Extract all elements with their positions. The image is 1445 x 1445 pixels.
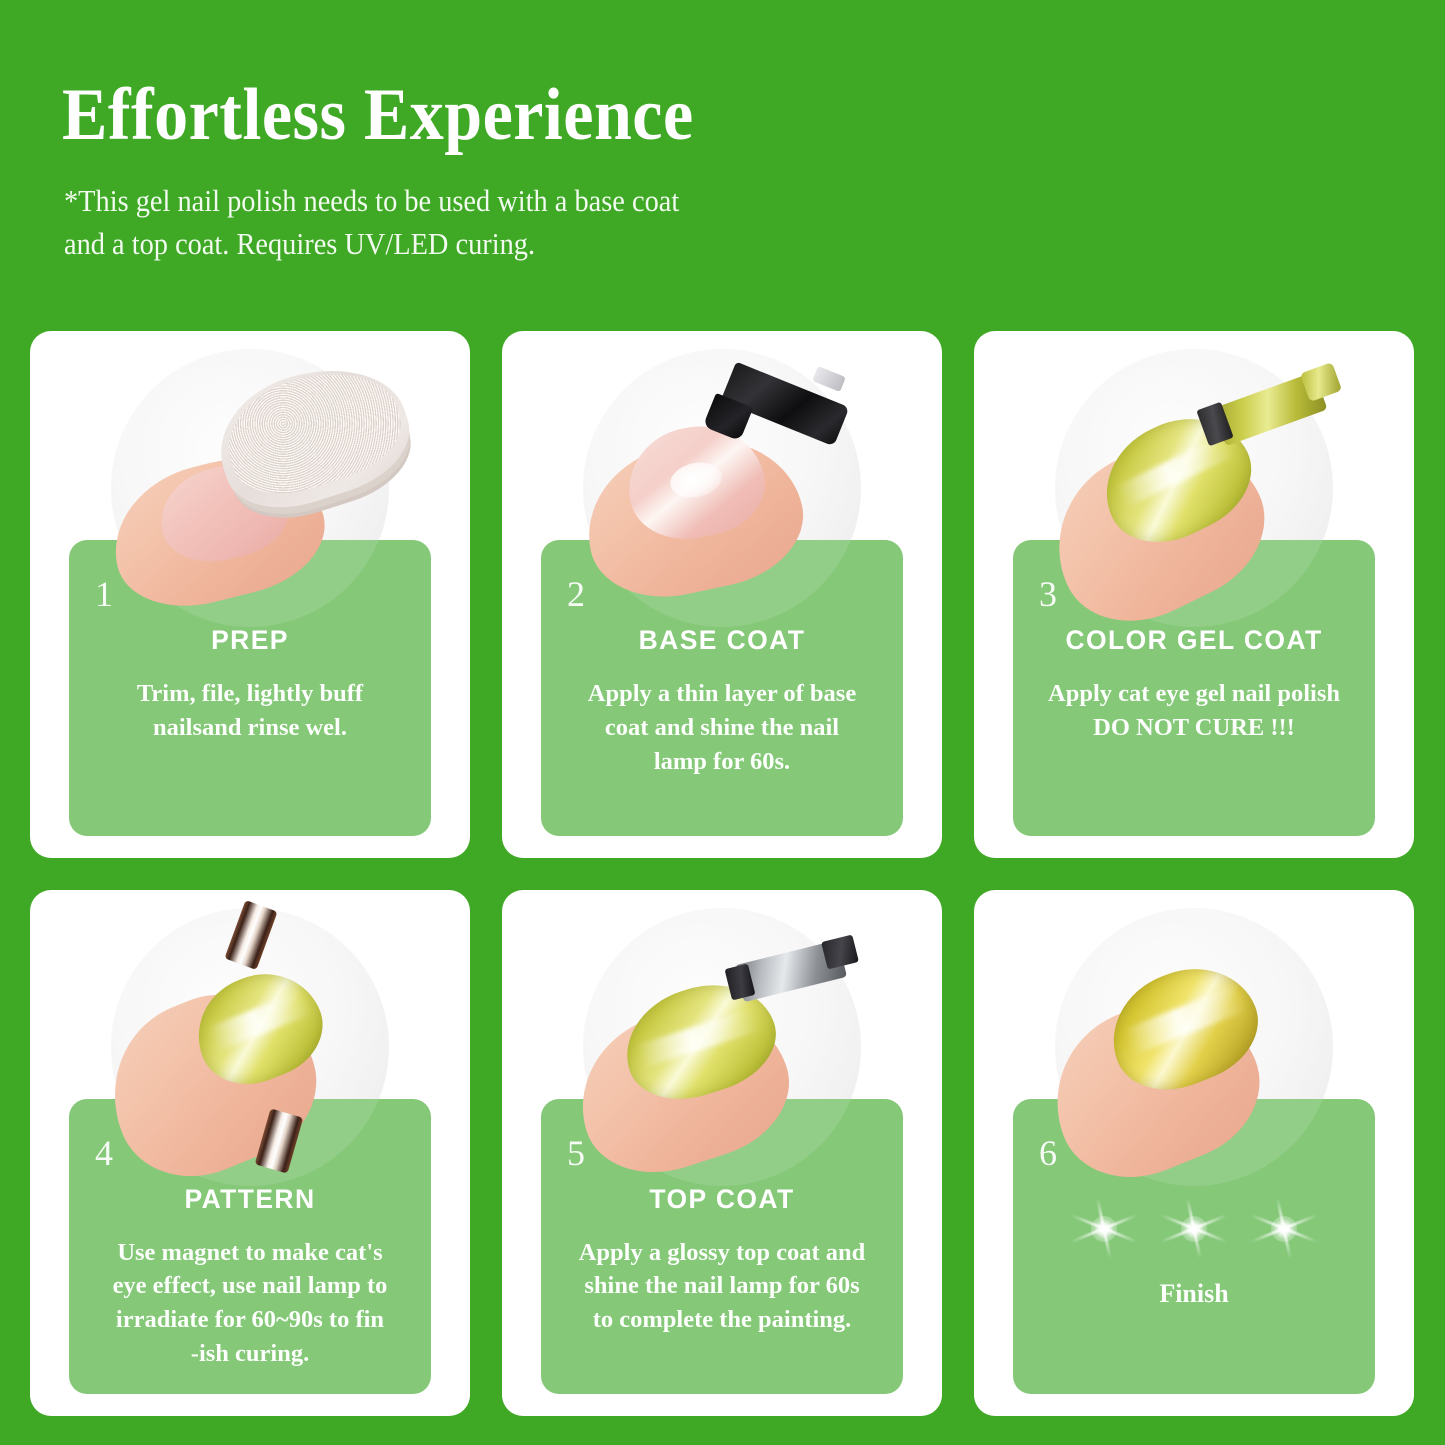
page-title: Effortless Experience [62,78,1074,152]
step-card-4[interactable]: 4 PATTERN Use magnet to make cat's eye e… [30,890,470,1417]
step-card-1[interactable]: 1 PREP Trim, file, lightly buff nailsand… [30,331,470,858]
step-title: BASE COAT [553,626,891,655]
step-description: Use magnet to make cat's eye effect, use… [81,1236,419,1371]
step-panel-1: 1 PREP Trim, file, lightly buff nailsand… [69,540,431,836]
step-description: Apply a glossy top coat and shine the na… [553,1236,891,1337]
step-number: 3 [1039,576,1057,612]
step-number: 1 [95,576,113,612]
step-panel-4: 4 PATTERN Use magnet to make cat's eye e… [69,1099,431,1395]
step-number: 6 [1039,1135,1057,1171]
step-panel-2: 2 BASE COAT Apply a thin layer of base c… [541,540,903,836]
steps-grid: 1 PREP Trim, file, lightly buff nailsand… [30,331,1414,1416]
header: Effortless Experience *This gel nail pol… [62,78,1162,267]
step-panel-6: 6 Finish [1013,1099,1375,1395]
panel-circle-tint [111,1099,389,1186]
sparkle-icon [1158,1193,1230,1265]
step-number: 4 [95,1135,113,1171]
step-title: TOP COAT [553,1185,891,1214]
step-card-2[interactable]: 2 BASE COAT Apply a thin layer of base c… [502,331,942,858]
step-title: COLOR GEL COAT [1025,626,1363,655]
panel-circle-tint [583,1099,861,1186]
page-subtitle-note: *This gel nail polish needs to be used w… [64,180,1085,267]
sparkle-group [1025,1181,1363,1277]
step-card-5[interactable]: 5 TOP COAT Apply a glossy top coat and s… [502,890,942,1417]
step-card-6[interactable]: 6 Finish [974,890,1414,1417]
sparkle-icon [1248,1193,1320,1265]
sparkle-icon [1068,1193,1140,1265]
step-title: PREP [81,626,419,655]
step-description: Apply a thin layer of base coat and shin… [553,677,891,778]
panel-circle-tint [111,540,389,627]
step-number: 5 [567,1135,585,1171]
step-panel-3: 3 COLOR GEL COAT Apply cat eye gel nail … [1013,540,1375,836]
panel-circle-tint [1055,540,1333,627]
step-card-3[interactable]: 3 COLOR GEL COAT Apply cat eye gel nail … [974,331,1414,858]
finish-label: Finish [1025,1279,1363,1309]
panel-circle-tint [1055,1099,1333,1186]
panel-circle-tint [583,540,861,627]
step-title: PATTERN [81,1185,419,1214]
step-panel-5: 5 TOP COAT Apply a glossy top coat and s… [541,1099,903,1395]
step-number: 2 [567,576,585,612]
step-description: Trim, file, lightly buff nailsand rinse … [81,677,419,745]
step-description: Apply cat eye gel nail polish DO NOT CUR… [1025,677,1363,745]
